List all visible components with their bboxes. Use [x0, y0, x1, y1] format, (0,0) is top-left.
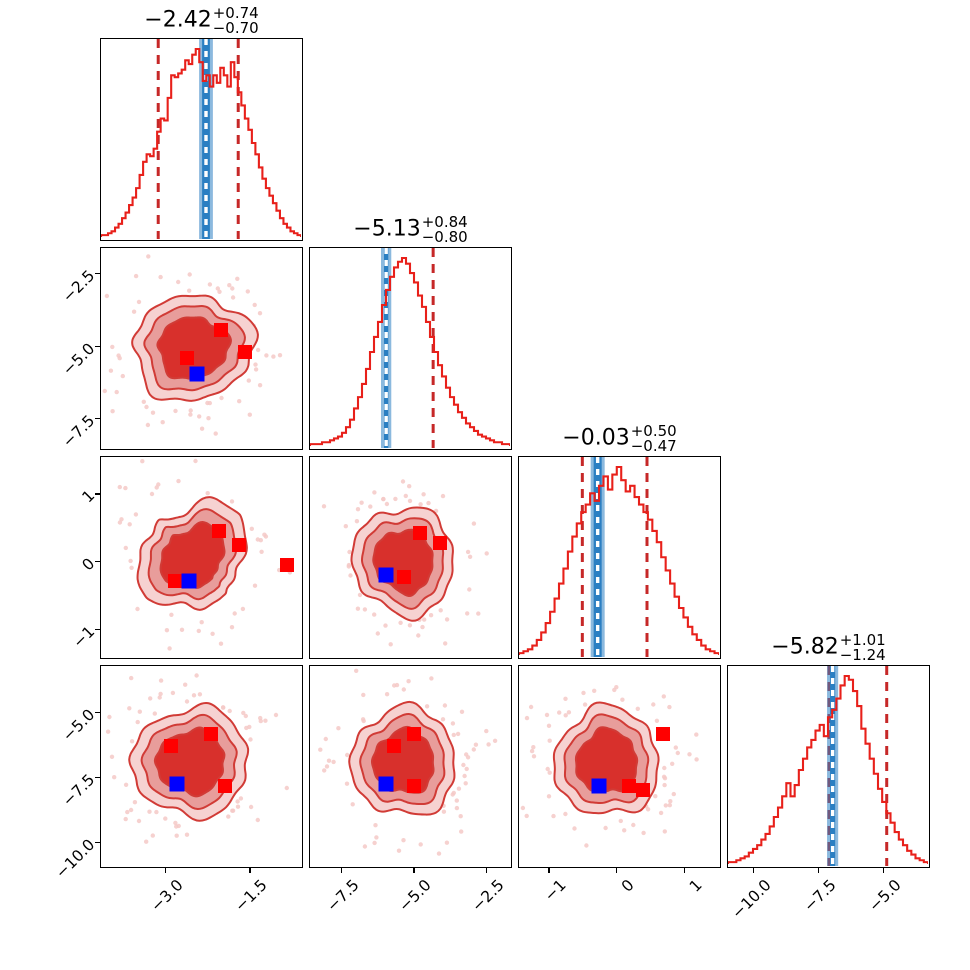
title-median-value: −0.03 [562, 425, 629, 450]
panel-title-p3: −0.03+0.50−0.47 [518, 423, 721, 454]
y-tick-mark [95, 629, 100, 630]
x-tick-mark [616, 868, 617, 873]
y-tick-mark [95, 346, 100, 347]
x-tick-mark [684, 868, 685, 873]
joint-panel-p2-p3 [309, 456, 512, 659]
x-tick-mark [165, 868, 166, 873]
title-median-value: −5.82 [771, 634, 838, 659]
histogram-panel-p2 [309, 247, 512, 450]
title-median-value: −5.13 [353, 216, 420, 241]
joint-panel-p3-p4 [518, 665, 721, 868]
y-tick-mark [95, 842, 100, 843]
title-lower-error: −1.24 [840, 648, 886, 663]
x-tick-mark [413, 868, 414, 873]
joint-panel-p1-p3 [100, 456, 303, 659]
panel-title-p1: −2.42+0.74−0.70 [100, 5, 303, 36]
panel-title-p4: −5.82+1.01−1.24 [727, 632, 930, 663]
x-tick-mark [548, 868, 549, 873]
joint-panel-p2-p4 [309, 665, 512, 868]
y-tick-mark [95, 493, 100, 494]
corner-plot-figure: −2.42+0.74−0.70−5.13+0.84−0.80−0.03+0.50… [0, 0, 970, 970]
title-lower-error: −0.47 [631, 439, 677, 454]
y-tick-mark [95, 418, 100, 419]
y-tick-mark [95, 561, 100, 562]
joint-panel-p1-p2 [100, 247, 303, 450]
x-tick-mark [753, 868, 754, 873]
histogram-panel-p3 [518, 456, 721, 659]
histogram-panel-p4 [727, 665, 930, 868]
y-tick-mark [95, 777, 100, 778]
x-tick-label: −3.0 [89, 876, 187, 970]
x-tick-mark [818, 868, 819, 873]
title-lower-error: −0.80 [422, 230, 468, 245]
y-tick-mark [95, 273, 100, 274]
joint-panel-p1-p4 [100, 665, 303, 868]
title-lower-error: −0.70 [213, 21, 259, 36]
x-tick-mark [249, 868, 250, 873]
x-tick-mark [883, 868, 884, 873]
x-tick-mark [341, 868, 342, 873]
histogram-panel-p1 [100, 38, 303, 241]
y-tick-mark [95, 712, 100, 713]
x-tick-mark [486, 868, 487, 873]
x-tick-label: −1.5 [174, 876, 272, 970]
panel-title-p2: −5.13+0.84−0.80 [309, 214, 512, 245]
title-median-value: −2.42 [144, 7, 211, 32]
